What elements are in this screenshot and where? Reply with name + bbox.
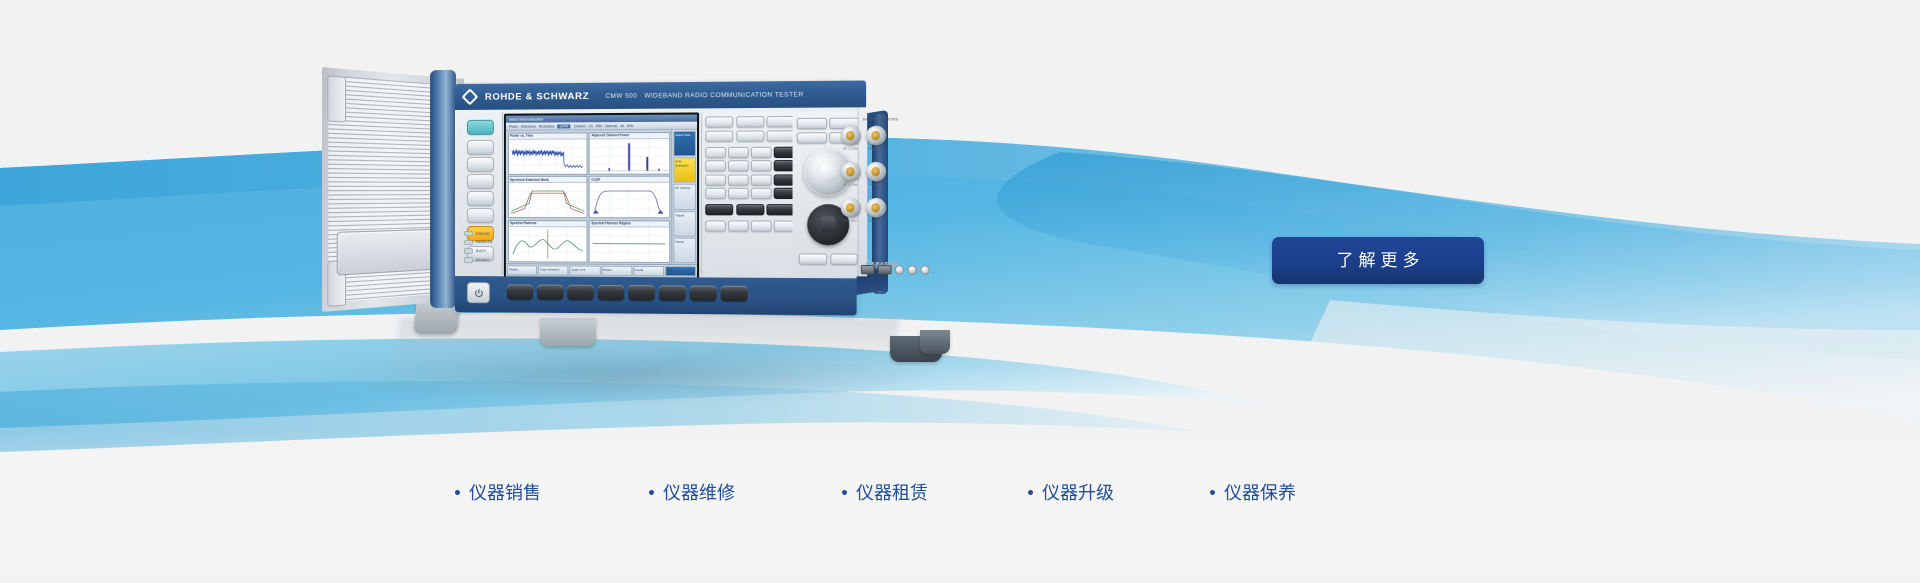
io-port-row[interactable] <box>861 265 931 275</box>
function-key[interactable] <box>705 116 733 127</box>
usb-port[interactable] <box>878 265 892 274</box>
led-label: ERROR <box>476 232 490 236</box>
numeric-key[interactable] <box>705 146 725 157</box>
rf-connector[interactable] <box>866 162 886 182</box>
function-key-group[interactable] <box>705 116 794 141</box>
rf-connector-label: RF 4 COM <box>866 183 886 187</box>
side-softkey[interactable]: Select View <box>673 131 696 157</box>
rf-connector-label: RF 2 OUT <box>866 219 886 223</box>
display-tab[interactable]: Reference <box>521 124 536 128</box>
top-key[interactable] <box>797 118 827 129</box>
keypad-block[interactable] <box>701 112 799 276</box>
led-label: REMOTE <box>476 240 493 244</box>
footer-key[interactable]: Config <box>633 266 664 276</box>
display-tab[interactable]: All <box>620 124 624 128</box>
hero-banner: ROHDE & SCHWARZ CMW 500 · WIDEBAND RADIO… <box>0 0 1920 583</box>
aux-connector[interactable] <box>895 265 905 274</box>
plot-panel[interactable]: Spectral Flatness <box>507 220 587 263</box>
bullet-icon <box>842 490 847 495</box>
rf-connector[interactable] <box>840 162 860 182</box>
aux-key[interactable] <box>751 220 771 231</box>
display-tab[interactable]: Channel <box>574 124 586 128</box>
numeric-key[interactable] <box>728 188 748 199</box>
learn-more-label: 了解更多 <box>1332 252 1425 269</box>
numeric-key[interactable] <box>705 174 725 185</box>
softkey[interactable] <box>721 286 748 302</box>
footer-key[interactable]: Trace Selection <box>538 265 568 275</box>
display-footer-keys[interactable]: Display Trace Selection Scale Limit Mark… <box>506 263 697 277</box>
bullet-icon <box>1210 490 1215 495</box>
service-link-repair[interactable]: 仪器维修 <box>649 479 735 505</box>
status-led-row: READY <box>464 257 500 263</box>
plot-canvas <box>590 227 669 262</box>
footer-key[interactable]: Scale Limit <box>570 266 601 276</box>
status-led-row: BUSY <box>464 248 500 254</box>
side-key-2[interactable] <box>467 140 494 155</box>
plot-panel[interactable]: Adjacent Channel Power <box>589 131 670 174</box>
service-link-sales[interactable]: 仪器销售 <box>455 479 541 505</box>
plot-panel[interactable]: Spectrum Emission Mask <box>507 176 587 218</box>
plot-canvas <box>590 139 669 174</box>
nav-key[interactable] <box>799 253 827 264</box>
display-tab-selected[interactable]: GPRF <box>558 124 571 128</box>
side-key-5[interactable] <box>467 191 494 206</box>
device-shadow <box>330 352 930 404</box>
learn-more-button[interactable]: 了解更多 <box>1272 237 1484 284</box>
led-indicator-icon <box>464 257 473 262</box>
status-led-row: ERROR <box>464 231 500 236</box>
rf-connector-panel[interactable]: RF CONNECTORS RF 1 COM RF 2 COM RF 3 COM <box>858 111 868 276</box>
side-tab-top <box>327 75 346 122</box>
side-softkey[interactable]: RF Settings <box>673 184 696 210</box>
softkey[interactable] <box>507 284 533 299</box>
softkey-row[interactable] <box>507 284 748 301</box>
bullet-icon <box>455 490 460 495</box>
instrument-display[interactable]: Select Multi Evaluation Power Reference … <box>504 112 699 279</box>
service-link-label: 仪器销售 <box>469 479 541 505</box>
led-indicator-icon <box>464 231 473 236</box>
aux-key[interactable] <box>705 220 725 231</box>
device-front-panel: ROHDE & SCHWARZ CMW 500 · WIDEBAND RADIO… <box>455 81 857 316</box>
plot-grid: Power vs. Time <box>506 130 671 264</box>
service-link-label: 仪器保养 <box>1224 479 1296 505</box>
numeric-key[interactable] <box>728 146 748 157</box>
aux-connector[interactable] <box>907 265 917 274</box>
edit-key-group[interactable] <box>705 204 794 215</box>
side-softkey[interactable]: Marker <box>673 237 696 263</box>
numeric-key[interactable] <box>751 146 771 157</box>
numeric-keypad-group[interactable] <box>705 146 794 199</box>
led-indicator-icon <box>464 240 473 245</box>
softkey[interactable] <box>567 285 593 300</box>
service-link-maintenance[interactable]: 仪器保养 <box>1210 479 1296 505</box>
power-button[interactable] <box>467 282 490 303</box>
status-led-group: ERROR REMOTE BUSY READY <box>464 231 500 266</box>
footer-key[interactable]: Display <box>507 265 537 275</box>
display-tab[interactable]: Ch <box>589 124 593 128</box>
softkey[interactable] <box>659 285 686 300</box>
bottom-key-pair[interactable] <box>799 253 858 265</box>
side-softkey[interactable]: Trigger <box>673 211 696 237</box>
numeric-key[interactable] <box>751 174 771 185</box>
service-link-label: 仪器租赁 <box>856 479 928 505</box>
led-label: BUSY <box>476 249 487 253</box>
rf-connector-label: RF 1 COM <box>840 146 860 150</box>
carry-handle-left <box>430 70 456 308</box>
display-side-softkeys[interactable]: Select View Multi Evaluation RF Settings… <box>671 130 697 264</box>
backspace-key[interactable] <box>705 204 733 215</box>
bottom-key-group[interactable] <box>705 220 794 231</box>
status-led-row: REMOTE <box>464 240 500 246</box>
function-key[interactable] <box>766 116 794 127</box>
display-title: Select Multi Evaluation <box>509 117 543 121</box>
function-key[interactable] <box>766 130 794 141</box>
brand-strip: ROHDE & SCHWARZ CMW 500 · WIDEBAND RADIO… <box>455 80 866 110</box>
side-key-1[interactable] <box>467 120 494 135</box>
rf-connector[interactable] <box>840 126 860 146</box>
rf-connector-label: RF 1 OUT <box>840 219 860 223</box>
aux-connector[interactable] <box>920 265 930 274</box>
plot-canvas <box>508 183 586 217</box>
device-foot-middle <box>540 318 596 346</box>
bottom-control-strip <box>455 276 857 315</box>
side-key-6[interactable] <box>467 208 494 223</box>
service-link-upgrade[interactable]: 仪器升级 <box>1028 479 1114 505</box>
side-softkey[interactable]: Multi Evaluation <box>673 157 696 183</box>
softkey[interactable] <box>628 285 655 300</box>
rf-connector[interactable] <box>840 198 860 218</box>
power-icon <box>473 288 483 298</box>
plot-panel[interactable]: Power vs. Time <box>507 132 587 175</box>
cancel-key[interactable] <box>766 204 794 215</box>
rohde-schwarz-logo-icon <box>461 88 478 105</box>
brand-name: ROHDE & SCHWARZ <box>485 90 589 102</box>
aux-key[interactable] <box>728 220 748 231</box>
function-key[interactable] <box>736 116 764 127</box>
display-tab[interactable]: Nominal <box>605 124 617 128</box>
rf-connector[interactable] <box>866 198 886 218</box>
footer-key[interactable]: Zoom <box>665 266 696 276</box>
display-content: Select Multi Evaluation Power Reference … <box>506 115 697 278</box>
led-indicator-icon <box>464 248 473 253</box>
bullet-icon <box>649 490 654 495</box>
device-foot-right-2 <box>920 330 950 354</box>
numeric-key[interactable] <box>705 188 725 199</box>
function-key[interactable] <box>705 130 733 141</box>
display-tab[interactable]: RB0 <box>596 124 602 128</box>
rf-connector-label: RF 3 COM <box>840 183 860 187</box>
nav-key[interactable] <box>830 253 858 264</box>
display-tab[interactable]: MHz <box>627 124 634 128</box>
footer-key[interactable]: Marker <box>601 266 632 276</box>
service-link-label: 仪器升级 <box>1042 479 1114 505</box>
numeric-key[interactable] <box>728 174 748 185</box>
service-link-list: 仪器销售 仪器维修 仪器租赁 仪器升级 仪器保养 <box>455 475 1465 509</box>
plot-panel[interactable]: Spectral Flatness Ripples <box>589 220 670 263</box>
numeric-key[interactable] <box>728 160 748 171</box>
side-key-4[interactable] <box>467 174 494 189</box>
enter-key[interactable] <box>736 204 764 215</box>
plot-canvas <box>590 183 669 217</box>
bullet-icon <box>1028 490 1033 495</box>
numeric-key[interactable] <box>751 188 771 199</box>
rf-connector-label: RF 2 COM <box>866 146 886 150</box>
plot-panel[interactable]: CCDF <box>589 176 670 219</box>
numeric-key[interactable] <box>751 160 771 171</box>
service-link-rental[interactable]: 仪器租赁 <box>842 479 928 505</box>
display-tab[interactable]: Power <box>509 124 518 128</box>
display-plot-area: Power vs. Time <box>506 130 697 264</box>
top-key[interactable] <box>797 132 827 143</box>
usb-port[interactable] <box>861 265 875 274</box>
side-key-3[interactable] <box>467 157 494 172</box>
softkey[interactable] <box>537 285 563 300</box>
service-link-label: 仪器维修 <box>663 479 735 505</box>
softkey[interactable] <box>598 285 624 300</box>
plot-canvas <box>508 139 586 173</box>
plot-canvas <box>508 227 586 261</box>
display-tab[interactable]: Modulation <box>539 124 555 128</box>
led-label: READY <box>476 258 489 262</box>
left-key-column: ERROR REMOTE BUSY READY <box>458 112 503 275</box>
side-module-slot <box>337 229 445 276</box>
model-name: CMW 500 · WIDEBAND RADIO COMMUNICATION T… <box>605 91 803 100</box>
function-key[interactable] <box>736 130 764 141</box>
rf-connector[interactable] <box>866 126 886 146</box>
numeric-key[interactable] <box>705 160 725 171</box>
softkey[interactable] <box>690 286 717 301</box>
